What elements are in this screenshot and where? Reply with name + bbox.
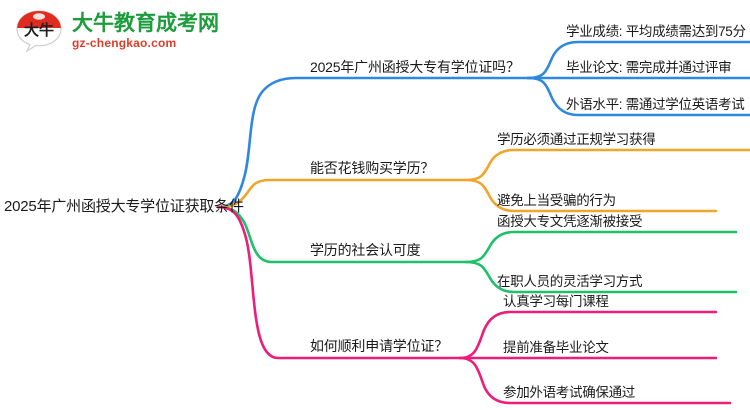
branch-connector-2: [218, 150, 750, 211]
mindmap-branch-node-1[interactable]: 2025年广州函授大专有学位证吗？: [310, 60, 520, 74]
mindmap-leaf-node-4-1[interactable]: 认真学习每门课程: [503, 295, 609, 309]
mindmap-branch-node-4[interactable]: 如何顺利申请学位证？: [310, 339, 448, 353]
branch-connector-4: [218, 207, 730, 403]
mindmap-canvas: 2025年广州函授大专学位证获取条件 2025年广州函授大专有学位证吗？ 能否花…: [0, 0, 750, 410]
mindmap-leaf-node-3-2[interactable]: 在职人员的灵活学习方式: [497, 275, 642, 289]
mindmap-leaf-node-4-2[interactable]: 提前准备毕业论文: [503, 341, 609, 355]
mindmap-leaf-node-1-2[interactable]: 毕业论文: 需完成并通过评审: [566, 61, 731, 75]
mindmap-branch-node-2[interactable]: 能否花钱购买学历？: [310, 161, 434, 175]
mindmap-leaf-node-1-3[interactable]: 外语水平: 需通过学位英语考试: [566, 98, 745, 112]
mindmap-leaf-node-4-3[interactable]: 参加外语考试确保通过: [503, 386, 635, 400]
mindmap-root-node[interactable]: 2025年广州函授大专学位证获取条件: [4, 199, 244, 214]
mindmap-leaf-node-3-1[interactable]: 函授大专文凭逐渐被接受: [497, 215, 642, 229]
mindmap-leaf-node-2-2[interactable]: 避免上当受骗的行为: [497, 194, 616, 208]
mindmap-leaf-node-1-1[interactable]: 学业成绩: 平均成绩需达到75分: [566, 25, 746, 39]
mindmap-leaf-node-2-1[interactable]: 学历必须通过正规学习获得: [497, 133, 655, 147]
branch-connector-3: [218, 207, 736, 292]
mindmap-branch-node-3[interactable]: 学历的社会认可度: [310, 243, 420, 257]
